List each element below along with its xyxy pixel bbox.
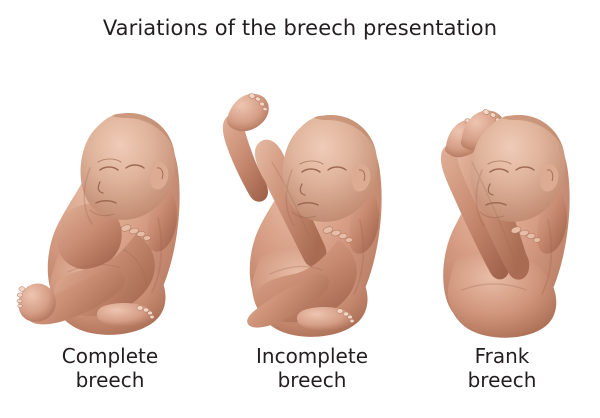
illustration-complete-breech bbox=[8, 58, 208, 348]
caption-line-1: Complete bbox=[10, 344, 210, 368]
foot-raised bbox=[227, 93, 269, 131]
caption-line-1: Incomplete bbox=[212, 344, 412, 368]
caption-incomplete-breech: Incomplete breech bbox=[212, 344, 412, 393]
illustration-frank-breech bbox=[402, 58, 600, 348]
foot-left bbox=[17, 284, 56, 322]
caption-complete-breech: Complete breech bbox=[10, 344, 210, 393]
breech-presentation-figure: Variations of the breech presentation bbox=[0, 0, 600, 418]
figure-captions: Complete breech Incomplete breech Frank … bbox=[0, 344, 600, 414]
illustration-panels bbox=[0, 58, 600, 348]
caption-line-1: Frank bbox=[402, 344, 600, 368]
illustration-incomplete-breech bbox=[212, 58, 412, 348]
fetus-incomplete-breech bbox=[223, 93, 382, 337]
caption-line-2: breech bbox=[212, 368, 412, 392]
caption-frank-breech: Frank breech bbox=[402, 344, 600, 393]
caption-line-2: breech bbox=[402, 368, 600, 392]
fetus-frank-breech bbox=[441, 109, 570, 338]
fetus-complete-breech bbox=[17, 113, 180, 335]
figure-title: Variations of the breech presentation bbox=[0, 16, 600, 41]
caption-line-2: breech bbox=[10, 368, 210, 392]
